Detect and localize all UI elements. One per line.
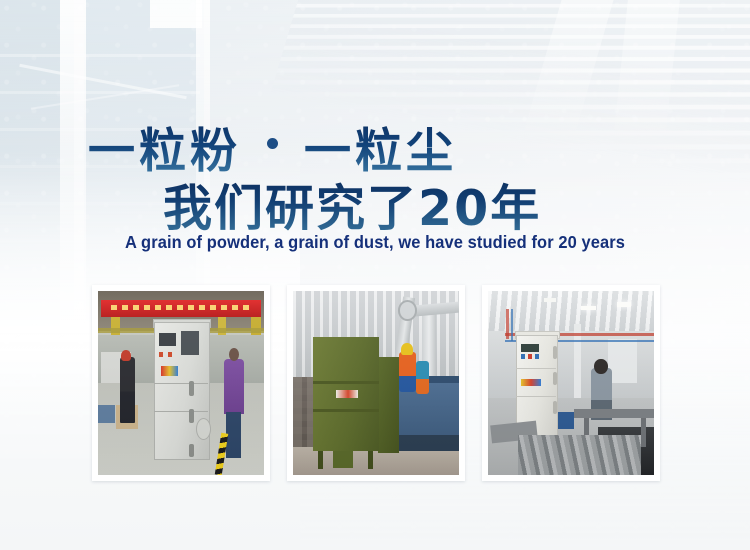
p2-worker-helmet bbox=[401, 343, 413, 356]
p1-inspection-port bbox=[196, 418, 211, 440]
p3-white-dust-collector bbox=[516, 335, 558, 440]
p3-cabinet-seam-2 bbox=[516, 396, 556, 397]
headline-subtitle: A grain of powder, a grain of dust, we h… bbox=[23, 232, 728, 253]
p1-cabinet-top bbox=[153, 319, 211, 328]
p2-steel-pillar bbox=[422, 306, 435, 413]
p1-floor bbox=[98, 383, 264, 475]
p1-worker-black-cap bbox=[121, 350, 131, 361]
p3-bench-leg-2 bbox=[641, 418, 646, 447]
p3-ceiling-lamp-3 bbox=[544, 298, 556, 302]
p2-duct-horizontal bbox=[402, 301, 459, 317]
p1-blue-bin bbox=[98, 405, 115, 423]
p2-worker-orange-vest bbox=[399, 352, 416, 392]
photo-frame-3[interactable] bbox=[482, 285, 660, 481]
p1-red-banner bbox=[101, 300, 260, 317]
p3-ceiling-ribs bbox=[488, 291, 654, 331]
p3-cabinet-seam-1 bbox=[516, 368, 556, 369]
p2-lift-base bbox=[399, 435, 459, 452]
p1-cardboard-boxes bbox=[116, 405, 138, 429]
p3-blue-crate bbox=[558, 412, 575, 429]
p3-ceiling bbox=[488, 291, 654, 331]
p3-cabinet-top bbox=[515, 331, 560, 339]
p1-hazard-tape bbox=[214, 432, 227, 475]
p1-control-knobs bbox=[159, 352, 176, 358]
photo-frame-2[interactable] bbox=[287, 285, 465, 481]
p3-worker-head bbox=[594, 359, 607, 374]
p1-beam bbox=[98, 328, 264, 334]
p1-control-panel bbox=[159, 333, 176, 346]
p2-worker-second bbox=[416, 361, 429, 394]
p1-dust-collector-cabinet bbox=[154, 322, 209, 460]
p1-worker-purple bbox=[224, 359, 244, 414]
p1-pillar-a bbox=[111, 317, 119, 380]
p2-upper-wall bbox=[293, 291, 459, 377]
p1-roof bbox=[98, 291, 264, 331]
photo-frame-1[interactable] bbox=[92, 285, 270, 481]
p2-collector-top bbox=[313, 337, 379, 354]
p2-brand-label bbox=[336, 390, 358, 397]
p3-display-screen bbox=[521, 344, 539, 351]
p3-column bbox=[574, 324, 581, 401]
p2-duct-vertical bbox=[393, 296, 415, 370]
p1-pillar-b bbox=[218, 317, 226, 372]
p3-metal-rails bbox=[518, 435, 641, 475]
p2-green-dust-collector bbox=[313, 337, 379, 451]
p1-brand-label bbox=[161, 366, 178, 375]
bullet-dot-icon bbox=[267, 138, 278, 149]
p3-control-buttons bbox=[521, 354, 539, 359]
p1-door-handle-3 bbox=[189, 444, 194, 457]
p1-door-handle-2 bbox=[189, 409, 194, 424]
p1-inverter-panel bbox=[181, 331, 199, 355]
p1-worker-purple-legs bbox=[226, 412, 241, 458]
photo-workshop-white-cabinet bbox=[488, 291, 654, 475]
p1-panel-seam-1 bbox=[154, 383, 207, 384]
p1-pillar-c bbox=[251, 317, 261, 376]
p3-bench-leg-1 bbox=[584, 418, 589, 451]
p1-back-wall bbox=[98, 335, 264, 383]
p3-blue-pipe-vertical bbox=[511, 309, 513, 340]
p2-collector-rear-section bbox=[378, 357, 400, 453]
p3-workbench bbox=[574, 409, 654, 418]
p3-wood-pallet bbox=[531, 412, 558, 423]
p3-red-pipe-vertical bbox=[506, 309, 508, 338]
p1-left-machine bbox=[101, 352, 131, 383]
p2-collector-seam-1 bbox=[313, 381, 379, 384]
p1-door-handle-1 bbox=[189, 381, 194, 396]
p3-door-handle-2 bbox=[553, 372, 557, 385]
p3-ceiling-lamp-2 bbox=[617, 302, 630, 307]
headline-line-2: 我们研究了20年 bbox=[163, 169, 541, 240]
p3-red-pipe bbox=[505, 333, 654, 336]
p3-metal-rails-left bbox=[490, 421, 538, 444]
p3-brand-label bbox=[521, 379, 541, 385]
p2-leg-left bbox=[318, 451, 323, 469]
p1-worker-black bbox=[120, 357, 135, 423]
p2-ground bbox=[293, 447, 459, 475]
p3-ceiling-lamp-1 bbox=[581, 306, 596, 311]
photo-strip bbox=[0, 285, 750, 485]
p2-wall-ribs bbox=[293, 291, 459, 377]
p3-door-handle-1 bbox=[553, 346, 557, 359]
p3-doorway bbox=[608, 339, 638, 383]
p2-collector-seam-2 bbox=[313, 409, 379, 412]
promo-banner: 一粒粉 一粒尘 我们研究了20年 A grain of powder, a gr… bbox=[0, 0, 750, 550]
p2-scissor-lift bbox=[396, 383, 459, 447]
p2-lift-rail bbox=[396, 376, 459, 385]
photo-factory-floor-grey-cabinet bbox=[98, 291, 264, 475]
p3-floor bbox=[488, 398, 654, 475]
p3-blue-pipe bbox=[505, 340, 654, 343]
p2-hopper bbox=[333, 451, 353, 468]
p3-door-handle-3 bbox=[553, 401, 557, 414]
p1-worker-purple-head bbox=[229, 348, 239, 361]
p1-panel-seam-2 bbox=[154, 411, 207, 412]
p2-leg-right bbox=[368, 451, 373, 469]
photo-green-dust-collector bbox=[293, 291, 459, 475]
p3-dark-equipment bbox=[598, 427, 654, 475]
p3-back-wall bbox=[488, 331, 654, 397]
p3-worker bbox=[591, 368, 613, 420]
p2-lower-wall bbox=[293, 377, 399, 447]
p2-duct-joint bbox=[398, 300, 417, 321]
